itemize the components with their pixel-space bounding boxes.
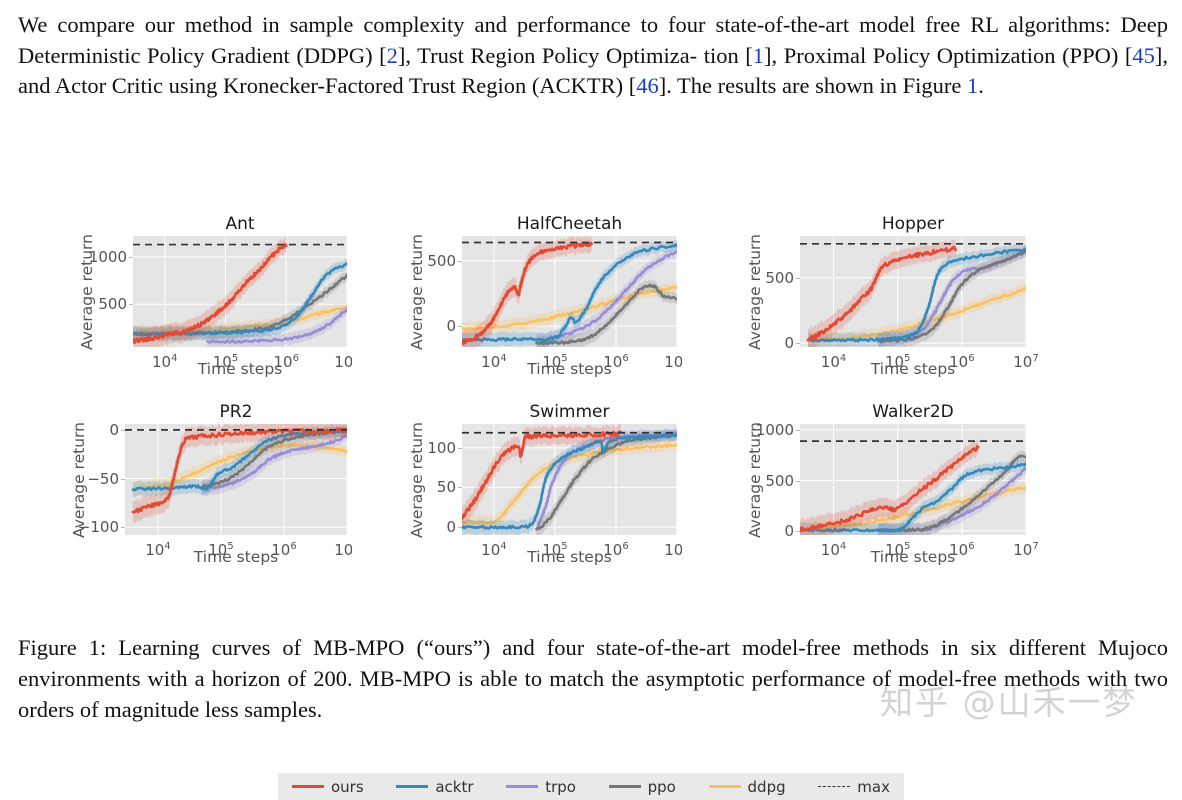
- legend-swatch-trpo: [506, 785, 538, 788]
- label-occluder: [352, 350, 400, 378]
- intro-line-1: We compare our method in sample complexi…: [18, 12, 960, 37]
- legend-swatch-acktr: [396, 785, 428, 788]
- figure-reference[interactable]: 1: [967, 73, 978, 98]
- legend-swatch-ppo: [609, 785, 641, 788]
- legend-label-acktr: acktr: [435, 778, 473, 796]
- panel-title-walker2d: Walker2D: [800, 402, 1026, 422]
- y-axis-label-walker2d: Average return: [746, 422, 764, 538]
- y-axis-label-pr2: Average return: [70, 422, 88, 538]
- x-tick-walker2d-1: 105: [885, 541, 910, 559]
- x-tick-walker2d-2: 106: [949, 541, 974, 559]
- citation-acktr[interactable]: 46: [636, 73, 659, 98]
- caption-label: Figure 1:: [18, 635, 106, 660]
- x-tick-walker2d-0: 104: [821, 541, 846, 559]
- legend-label-max: max: [857, 778, 890, 796]
- legend-label-trpo: trpo: [545, 778, 576, 796]
- plot-canvas-walker2d: [800, 424, 1026, 535]
- intro-line-4c: .: [978, 73, 984, 98]
- figure-caption: Figure 1: Learning curves of MB-MPO (“ou…: [18, 632, 1168, 725]
- figure-1: AntAverage returnTime steps5001000104105…: [0, 200, 1182, 610]
- y-tick-mark: [796, 430, 800, 431]
- figure-legend: oursacktrtrpoppoddpgmax: [278, 773, 904, 800]
- intro-line-3b: ], Proximal Policy Optimization (PPO) [: [764, 43, 1132, 68]
- citation-ddpg[interactable]: 2: [387, 43, 398, 68]
- y-axis-label-hopper: Average return: [746, 234, 764, 350]
- x-tick-walker2d-3: 107: [1013, 541, 1038, 559]
- legend-item-ours[interactable]: ours: [292, 778, 364, 796]
- citation-trpo[interactable]: 1: [753, 43, 764, 68]
- intro-line-3a: tion [: [704, 43, 753, 68]
- legend-label-ppo: ppo: [648, 778, 676, 796]
- intro-line-2b: ], Trust Region Policy Optimiza-: [398, 43, 697, 68]
- y-tick-mark: [796, 481, 800, 482]
- citation-ppo[interactable]: 45: [1132, 43, 1155, 68]
- legend-label-ours: ours: [331, 778, 364, 796]
- y-axis-label-halfcheetah: Average return: [408, 234, 426, 350]
- legend-item-ddpg[interactable]: ddpg: [709, 778, 786, 796]
- plot-area-walker2d: [800, 424, 1026, 535]
- panel-walker2d: Walker2DAverage returnTime steps05001000…: [0, 200, 1182, 610]
- legend-item-acktr[interactable]: acktr: [396, 778, 473, 796]
- panel-grid: AntAverage returnTime steps5001000104105…: [0, 200, 1182, 610]
- caption-text: Learning curves of MB-MPO (“ours”) and f…: [18, 635, 1168, 722]
- intro-line-4a: Region (ACKTR) [: [461, 73, 636, 98]
- legend-label-ddpg: ddpg: [748, 778, 786, 796]
- y-axis-label-swimmer: Average return: [408, 422, 426, 538]
- intro-line-4b: ]. The results are shown in Figure: [659, 73, 967, 98]
- legend-item-trpo[interactable]: trpo: [506, 778, 576, 796]
- legend-item-max[interactable]: max: [818, 778, 890, 796]
- intro-paragraph: We compare our method in sample complexi…: [18, 10, 1168, 102]
- label-occluder: [682, 538, 730, 566]
- legend-swatch-max: [818, 786, 850, 787]
- legend-item-ppo[interactable]: ppo: [609, 778, 676, 796]
- label-occluder: [682, 350, 730, 378]
- label-occluder: [352, 538, 400, 566]
- legend-swatch-ddpg: [709, 785, 741, 788]
- y-axis-label-ant: Average return: [78, 234, 96, 350]
- y-tick-mark: [796, 531, 800, 532]
- legend-swatch-ours: [292, 785, 324, 788]
